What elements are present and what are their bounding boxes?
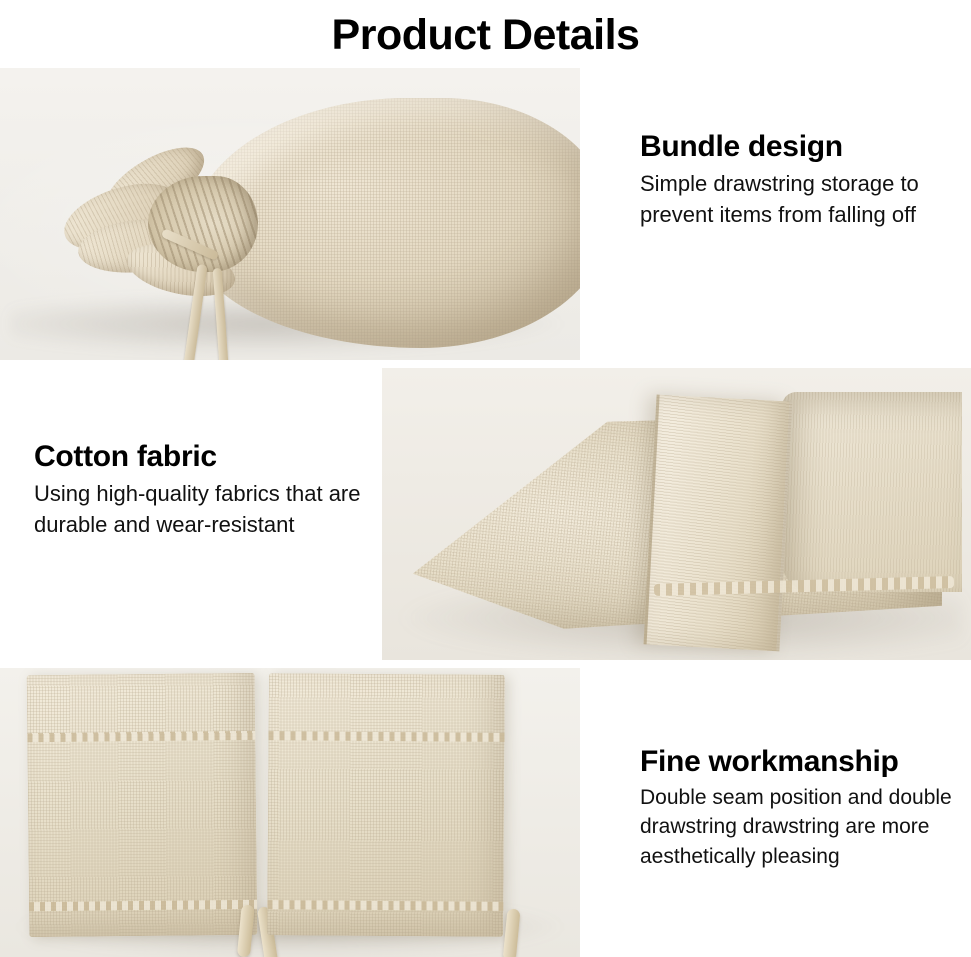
feature-body: Using high-quality fabrics that are dura… — [34, 478, 364, 540]
product-photo-cotton-fabric — [382, 368, 971, 660]
feature-heading: Cotton fabric — [34, 440, 364, 474]
product-photo-fine-workmanship — [0, 668, 580, 957]
bag-cinched-neck — [148, 176, 258, 272]
feature-body: Simple drawstring storage to prevent ite… — [640, 168, 960, 230]
page-title: Product Details — [0, 0, 971, 70]
bag-bottom-seam — [267, 900, 503, 911]
bag-hem-flap — [644, 395, 793, 652]
bag-bottom-seam — [29, 900, 257, 911]
feature-caption-fine-workmanship: Fine workmanship Double seam position an… — [640, 745, 965, 872]
flat-bag-right — [267, 673, 505, 937]
feature-caption-bundle-design: Bundle design Simple drawstring storage … — [640, 130, 960, 230]
feature-caption-cotton-fabric: Cotton fabric Using high-quality fabrics… — [34, 440, 364, 540]
flat-bag-left — [27, 673, 258, 937]
product-photo-bundle-design — [0, 68, 580, 360]
feature-heading: Fine workmanship — [640, 745, 965, 779]
bag-inner-panel — [782, 392, 962, 592]
bag-top-hem — [27, 731, 255, 742]
feature-heading: Bundle design — [640, 130, 960, 164]
bag-top-hem — [268, 731, 504, 742]
feature-body: Double seam position and double drawstri… — [640, 783, 965, 872]
